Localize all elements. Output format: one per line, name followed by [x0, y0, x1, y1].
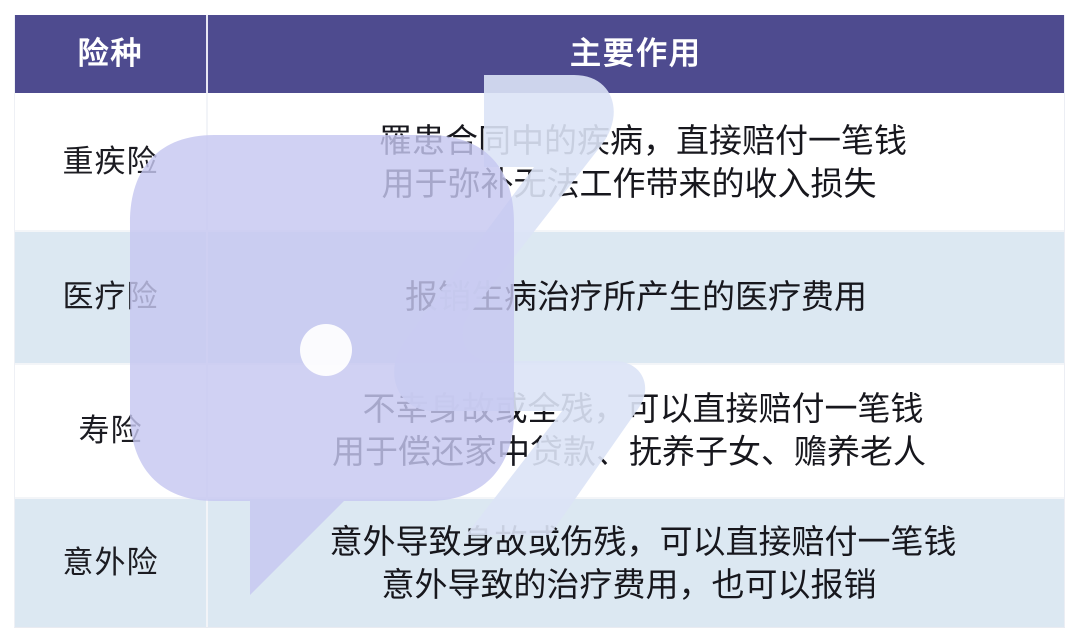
row-cell-effect: 不幸身故或全残，可以直接赔付一笔钱 用于偿还家中贷款、抚养子女、赡养老人 [207, 388, 1065, 474]
header-column-divider [206, 15, 208, 93]
row-separator [14, 230, 1065, 232]
header-cell-kind: 险种 [14, 35, 207, 72]
row-label-kind: 意外险 [63, 545, 159, 580]
row-label-kind: 重疾险 [63, 144, 159, 179]
header-label-effect: 主要作用 [570, 36, 702, 71]
row-cell-kind: 寿险 [14, 412, 207, 451]
table-row: 寿险 不幸身故或全残，可以直接赔付一笔钱 用于偿还家中贷款、抚养子女、赡养老人 [14, 365, 1065, 497]
table-row: 重疾险 罹患合同中的疾病，直接赔付一笔钱 用于弥补无法工作带来的收入损失 [14, 95, 1065, 230]
table-row: 医疗险 报销生病治疗所产生的医疗费用 [14, 232, 1065, 363]
table-row: 意外险 意外导致身故或伤残，可以直接赔付一笔钱 意外导致的治疗费用，也可以报销 [14, 499, 1065, 628]
header-label-kind: 险种 [78, 36, 144, 71]
row-separator [14, 497, 1065, 499]
row-cell-kind: 重疾险 [14, 143, 207, 182]
row-label-kind: 医疗险 [63, 279, 159, 314]
row-cell-effect: 意外导致身故或伤残，可以直接赔付一笔钱 意外导致的治疗费用，也可以报销 [207, 521, 1065, 607]
row-label-effect: 意外导致身故或伤残，可以直接赔付一笔钱 意外导致的治疗费用，也可以报销 [316, 523, 957, 603]
body-column-divider [206, 93, 208, 628]
header-cell-effect: 主要作用 [207, 35, 1065, 72]
row-cell-effect: 罹患合同中的疾病，直接赔付一笔钱 用于弥补无法工作带来的收入损失 [207, 120, 1065, 206]
table-body: 险种 主要作用 重疾险 罹患合同中的疾病，直接赔付一笔钱 用于弥补无法工作带来的… [14, 15, 1065, 628]
insurance-comparison-table: 险种 主要作用 重疾险 罹患合同中的疾病，直接赔付一笔钱 用于弥补无法工作带来的… [14, 15, 1065, 628]
screenshot-canvas: 险种 主要作用 重疾险 罹患合同中的疾病，直接赔付一笔钱 用于弥补无法工作带来的… [0, 0, 1080, 642]
row-cell-effect: 报销生病治疗所产生的医疗费用 [207, 276, 1065, 319]
row-label-effect: 不幸身故或全残，可以直接赔付一笔钱 用于偿还家中贷款、抚养子女、赡养老人 [332, 390, 940, 470]
row-label-kind: 寿险 [79, 413, 143, 448]
row-cell-kind: 医疗险 [14, 278, 207, 317]
row-label-effect: 报销生病治疗所产生的医疗费用 [391, 278, 881, 315]
table-header-row: 险种 主要作用 [14, 15, 1065, 93]
row-separator [14, 363, 1065, 365]
row-label-effect: 罹患合同中的疾病，直接赔付一笔钱 用于弥补无法工作带来的收入损失 [365, 122, 907, 202]
row-cell-kind: 意外险 [14, 544, 207, 583]
